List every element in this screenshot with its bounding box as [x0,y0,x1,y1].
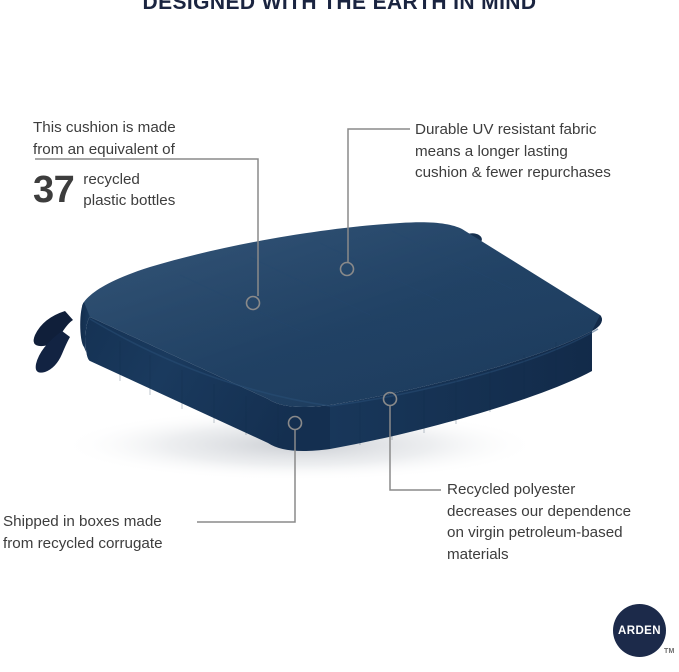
marker-recycled-corrugate [289,417,302,430]
leader-line-recycled-corrugate [197,430,295,522]
callout-uv-fabric-line-2: means a longer lasting [415,141,665,163]
callout-recycled-polyester: Recycled polyester decreases our depende… [447,479,672,565]
marker-recycled-polyester [384,393,397,406]
callout-recycled-corrugate: Shipped in boxes made from recycled corr… [3,511,218,554]
recycled-bottles-count: 37 [33,171,74,209]
recycled-bottles-stat: 37 recycled plastic bottles [33,169,273,211]
leader-line-recycled-polyester [390,406,441,490]
brand-logo: ARDEN [613,604,666,657]
callout-recycled-bottles-line-2: from an equivalent of [33,139,273,161]
trademark-symbol: TM [664,648,675,655]
callout-recycled-corrugate-line-1: Shipped in boxes made [3,511,218,533]
callout-uv-fabric: Durable UV resistant fabric means a long… [415,119,665,184]
marker-uv-fabric [341,263,354,276]
brand-logo-text: ARDEN [618,625,661,637]
infographic-canvas: DESIGNED WITH THE EARTH IN MIND [0,0,679,672]
callout-uv-fabric-line-1: Durable UV resistant fabric [415,119,665,141]
recycled-bottles-stat-words: recycled plastic bottles [83,169,175,211]
recycled-bottles-word-2: plastic bottles [83,190,175,211]
callout-recycled-polyester-line-4: materials [447,544,672,566]
callout-recycled-polyester-line-3: on virgin petroleum-based [447,522,672,544]
callout-leader-lines [0,0,679,672]
callout-recycled-polyester-line-1: Recycled polyester [447,479,672,501]
leader-line-uv-fabric [348,129,410,262]
callout-recycled-bottles-line-1: This cushion is made [33,117,273,139]
callout-recycled-polyester-line-2: decreases our dependence [447,501,672,523]
recycled-bottles-word-1: recycled [83,169,175,190]
callout-recycled-bottles: This cushion is made from an equivalent … [33,117,273,211]
callout-recycled-corrugate-line-2: from recycled corrugate [3,533,218,555]
marker-recycled-bottles [247,297,260,310]
callout-uv-fabric-line-3: cushion & fewer repurchases [415,162,665,184]
